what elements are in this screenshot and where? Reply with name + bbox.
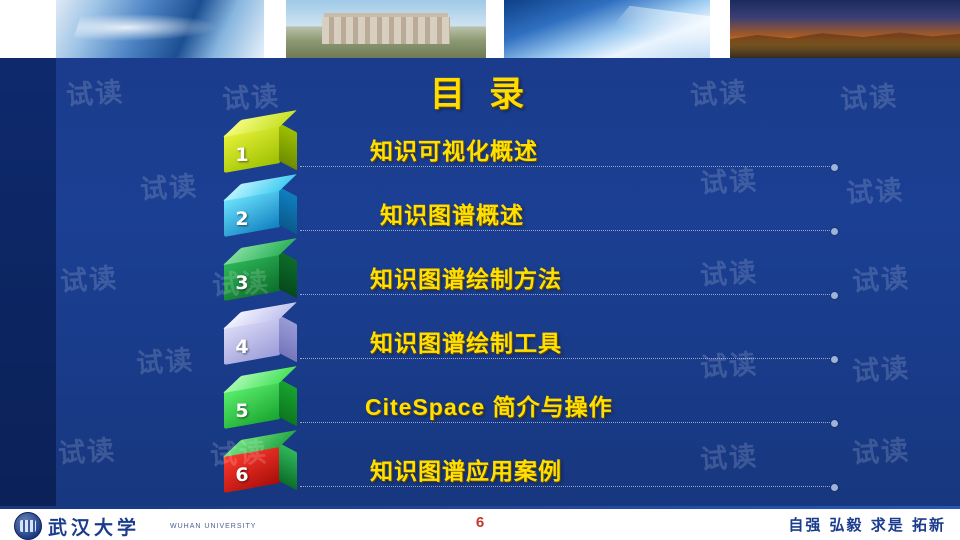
item-label: 知识图谱概述 bbox=[380, 196, 524, 230]
footer-rule bbox=[0, 506, 960, 509]
item-number: 6 bbox=[200, 450, 284, 500]
photo-campus-gate bbox=[286, 0, 486, 58]
leader-dots bbox=[300, 166, 830, 168]
list-item[interactable]: 4 知识图谱绘制工具 bbox=[200, 322, 840, 368]
item-label: 知识图谱应用案例 bbox=[370, 452, 562, 486]
item-number: 2 bbox=[200, 194, 284, 244]
item-label: CiteSpace 简介与操作 bbox=[365, 388, 613, 422]
leader-dots bbox=[300, 422, 830, 424]
leader-dots bbox=[300, 294, 830, 296]
list-item[interactable]: 6 知识图谱应用案例 bbox=[200, 450, 840, 496]
page-title: 目 录 bbox=[0, 66, 960, 117]
photo-campus-sky bbox=[504, 0, 710, 58]
university-motto: 自强 弘毅 求是 拓新 bbox=[788, 514, 946, 535]
item-number: 5 bbox=[200, 386, 284, 436]
item-number: 4 bbox=[200, 322, 284, 372]
leader-dots bbox=[300, 358, 830, 360]
item-label: 知识可视化概述 bbox=[370, 132, 538, 166]
slide-root: 目 录 1 知识可视化概述 2 知识图谱概述 bbox=[0, 0, 960, 540]
contents-list: 1 知识可视化概述 2 知识图谱概述 3 知识图谱绘 bbox=[0, 118, 960, 506]
list-item[interactable]: 3 知识图谱绘制方法 bbox=[200, 258, 840, 304]
list-item[interactable]: 5 CiteSpace 简介与操作 bbox=[200, 386, 840, 432]
photo-campus-sunset bbox=[730, 0, 960, 58]
header-photo-band bbox=[0, 0, 960, 58]
leader-dots bbox=[300, 486, 830, 488]
slide-footer: 武汉大学 WUHAN UNIVERSITY 6 自强 弘毅 求是 拓新 bbox=[0, 506, 960, 540]
list-item[interactable]: 2 知识图谱概述 bbox=[200, 194, 840, 240]
item-number: 3 bbox=[200, 258, 284, 308]
photo-campus-abstract bbox=[56, 0, 264, 58]
item-label: 知识图谱绘制方法 bbox=[370, 260, 562, 294]
item-number: 1 bbox=[200, 130, 284, 180]
item-label: 知识图谱绘制工具 bbox=[370, 324, 562, 358]
list-item[interactable]: 1 知识可视化概述 bbox=[200, 130, 840, 176]
leader-dots bbox=[300, 230, 830, 232]
